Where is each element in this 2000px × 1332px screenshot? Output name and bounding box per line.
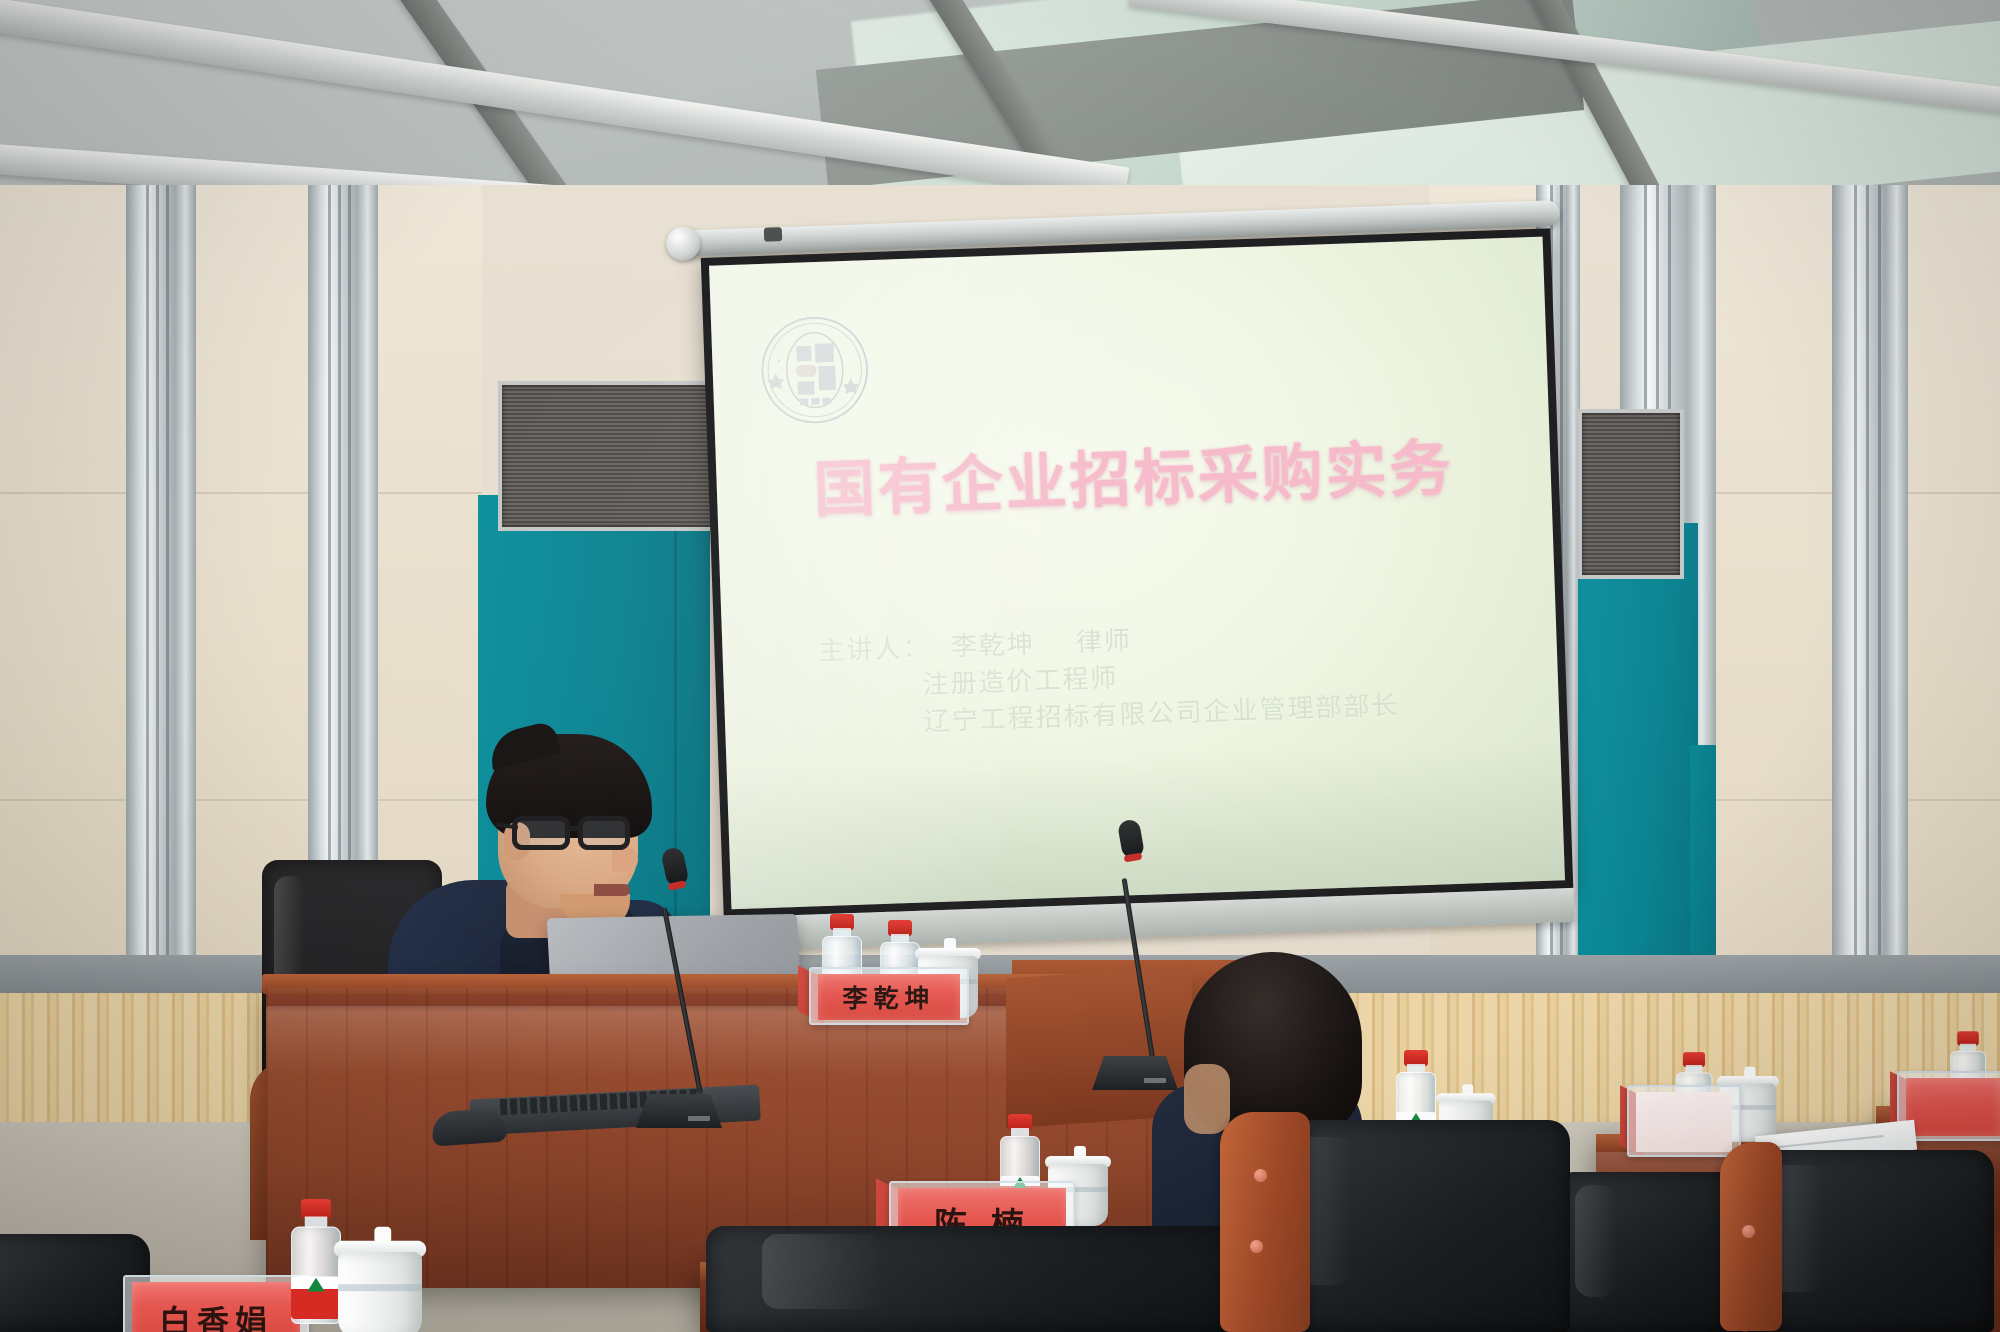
chair-wood-frame xyxy=(1720,1142,1782,1331)
conference-room-photo: 国有企业招标采购实务 主讲人： 李乾坤 律师 注册造价工程师 辽宁工程招标有限公… xyxy=(0,0,2000,1332)
audience-member-ear-side xyxy=(1184,1064,1230,1134)
placard-name-text: 白香娟 xyxy=(159,1297,273,1332)
bottle-label xyxy=(291,1277,341,1320)
audience-chair-center[interactable] xyxy=(706,1226,1266,1332)
name-placard-front-left: 白香娟 xyxy=(132,1282,300,1332)
projector-screen-frame: 国有企业招标采购实务 主讲人： 李乾坤 律师 注册造价工程师 辽宁工程招标有限公… xyxy=(701,228,1574,917)
green-pine-tree-icon xyxy=(307,1278,325,1292)
name-placard-podium: 李乾坤 xyxy=(818,974,960,1020)
name-placard-right-1 xyxy=(1636,1092,1732,1152)
gooseneck-microphone-left[interactable] xyxy=(628,848,728,1128)
projector-screen-surface: 国有企业招标采购实务 主讲人： 李乾坤 律师 注册造价工程师 辽宁工程招标有限公… xyxy=(709,237,1565,910)
placard-name-text: 李乾坤 xyxy=(842,979,935,1015)
placard-card xyxy=(1906,1078,2000,1136)
gooseneck-microphone-right[interactable] xyxy=(1088,820,1198,1090)
placard-card xyxy=(1636,1092,1732,1152)
audience-chair-right-2[interactable] xyxy=(1744,1150,1994,1332)
water-bottle[interactable] xyxy=(291,1204,341,1324)
tea-cup-with-lid[interactable] xyxy=(338,1235,422,1332)
placard-card: 白香娟 xyxy=(132,1282,300,1332)
eyeglasses-icon xyxy=(508,812,642,856)
slide-title: 国有企业招标采购实务 xyxy=(715,414,1552,532)
liaoning-engineering-tendering-seal-logo xyxy=(757,312,873,428)
name-placard-right-2 xyxy=(1906,1078,2000,1136)
audience-chair-center-right[interactable] xyxy=(1250,1120,1570,1332)
presenter-mouth xyxy=(594,884,630,896)
slide-subtitle-block: 主讲人： 李乾坤 律师 注册造价工程师 辽宁工程招标有限公司企业管理部部长 xyxy=(818,614,1400,745)
screen-roller-bracket xyxy=(764,227,782,242)
audience-chair-right-1[interactable] xyxy=(1556,1172,1746,1332)
placard-card: 李乾坤 xyxy=(818,974,960,1020)
chair-wood-frame xyxy=(1220,1112,1310,1332)
wall-speaker-grille-left xyxy=(498,381,732,531)
